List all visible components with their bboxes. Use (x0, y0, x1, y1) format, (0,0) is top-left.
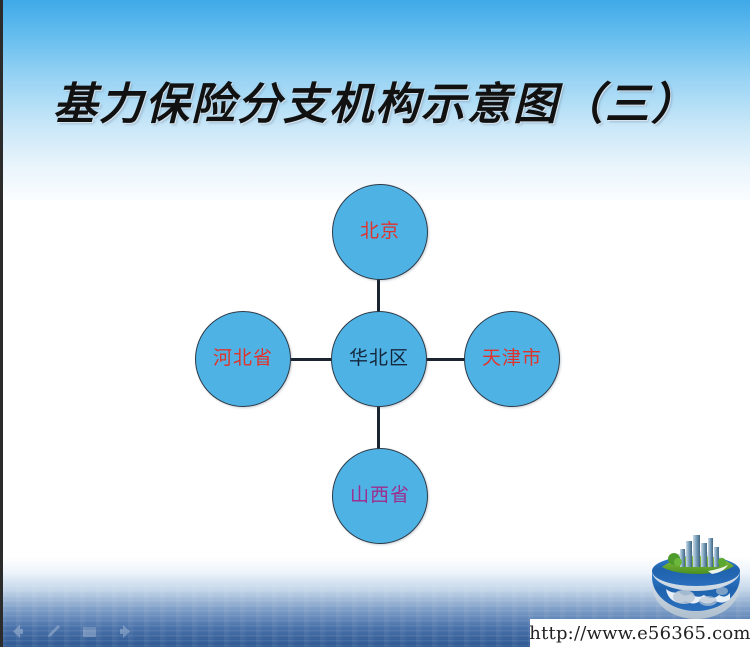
diagram-node-hebei[interactable]: 河北省 (195, 311, 291, 407)
diagram-node-label: 山西省 (350, 486, 410, 505)
slideshow-navigation-bar[interactable] (8, 622, 135, 641)
document-icon[interactable] (80, 622, 99, 641)
diagram-node-label: 北京 (360, 222, 400, 241)
back-arrow-icon[interactable] (8, 622, 27, 641)
pencil-icon[interactable] (44, 622, 63, 641)
diagram-node-shanxi[interactable]: 山西省 (332, 448, 428, 544)
forward-arrow-icon[interactable] (116, 622, 135, 641)
earth-city-globe-logo (648, 531, 744, 623)
diagram-node-north-china-region[interactable]: 华北区 (331, 311, 427, 407)
connector-center-to-bottom (377, 406, 380, 452)
connector-center-to-left (288, 358, 332, 361)
website-url-plate: http://www.e56365.com (530, 619, 750, 647)
diagram-node-beijing[interactable]: 北京 (332, 184, 428, 280)
website-url: http://www.e56365.com (529, 623, 750, 644)
slide-title: 基力保险分支机构示意图（三） (0, 68, 750, 132)
diagram-node-tianjin[interactable]: 天津市 (464, 311, 560, 407)
diagram-node-label: 河北省 (213, 349, 273, 368)
diagram-node-label: 华北区 (349, 349, 409, 368)
diagram-node-label: 天津市 (482, 349, 542, 368)
presentation-slide: 基力保险分支机构示意图（三） 北京 河北省 华北区 天津市 山西省 (0, 0, 750, 647)
connector-center-to-top (377, 279, 380, 314)
